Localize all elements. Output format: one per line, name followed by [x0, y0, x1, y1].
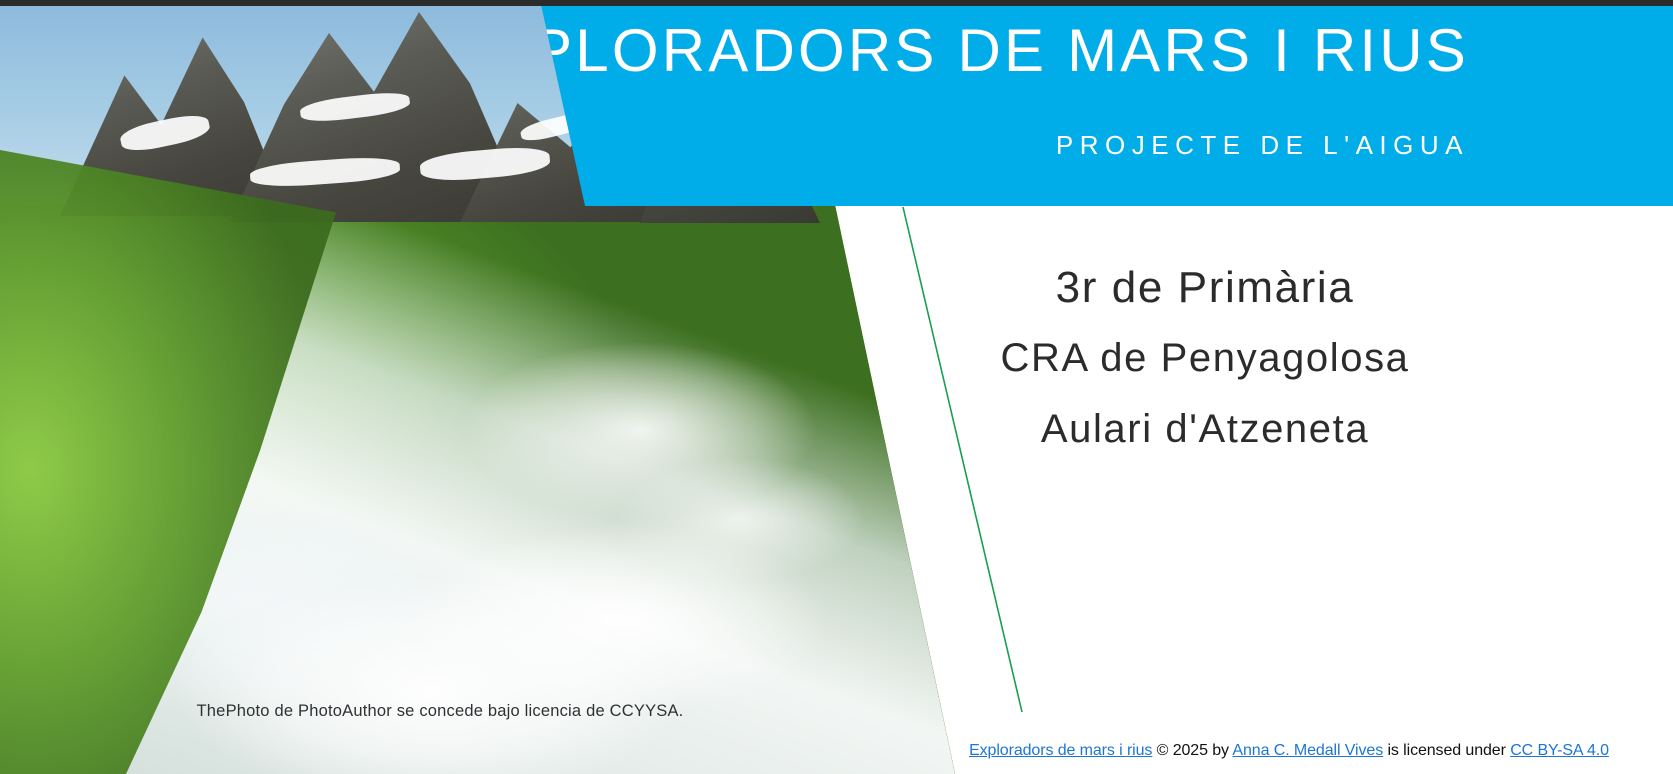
- license-statement: Exploradors de mars i rius © 2025 by Ann…: [905, 742, 1673, 760]
- grade-level-text: 3r de Primària: [960, 252, 1450, 323]
- page-title: EXPLORADORS DE MARS I RIUS: [446, 18, 1469, 84]
- license-copyright-text: © 2025 by: [1152, 742, 1229, 759]
- page-subtitle: PROJECTE DE L'AIGUA: [1056, 130, 1469, 161]
- license-middle-text: is licensed under: [1383, 742, 1506, 759]
- work-title-link[interactable]: Exploradors de mars i rius: [969, 742, 1152, 759]
- author-link[interactable]: Anna C. Medall Vives: [1232, 742, 1383, 759]
- course-info-block: 3r de Primària CRA de Penyagolosa Aulari…: [960, 252, 1450, 466]
- license-type-link[interactable]: CC BY-SA 4.0: [1510, 742, 1609, 759]
- presentation-slide: ThePhoto de PhotoAuthor se concede bajo …: [0, 0, 1673, 774]
- school-name-text: CRA de Penyagolosa: [960, 323, 1450, 394]
- photo-attribution-caption: ThePhoto de PhotoAuthor se concede bajo …: [0, 702, 880, 721]
- campus-name-text: Aulari d'Atzeneta: [960, 394, 1450, 465]
- photo-grass-foreground: [0, 150, 420, 774]
- window-top-edge: [0, 0, 1673, 6]
